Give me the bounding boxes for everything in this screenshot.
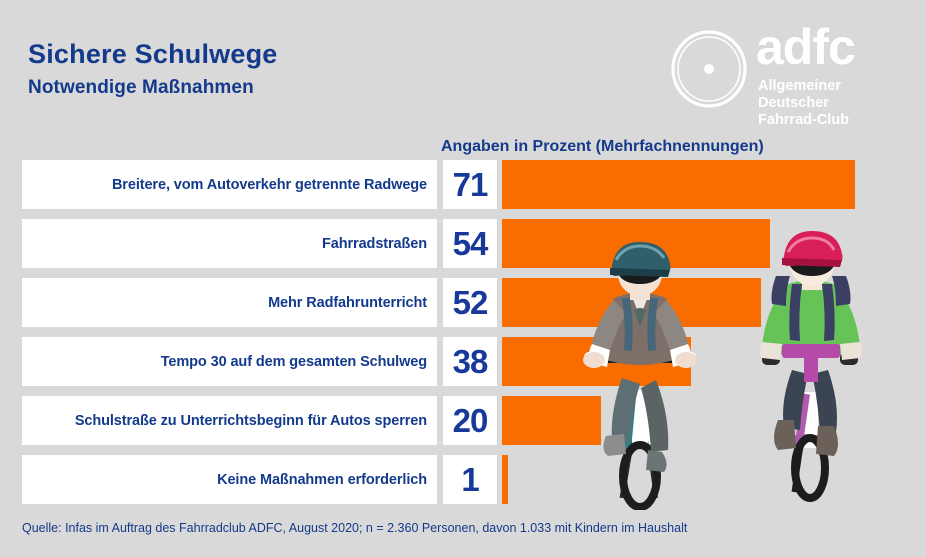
bar-label: Keine Maßnahmen erforderlich bbox=[217, 472, 427, 488]
adfc-logo: adfc Allgemeiner Deutscher Fahrrad-Club bbox=[668, 26, 914, 118]
bar-value: 1 bbox=[461, 463, 478, 496]
chart-note: Angaben in Prozent (Mehrfachnennungen) bbox=[441, 138, 764, 156]
bar-label-box: Fahrradstraßen bbox=[22, 219, 437, 268]
bar-row: Breitere, vom Autoverkehr getrennte Radw… bbox=[0, 160, 926, 209]
bar-value-box: 71 bbox=[443, 160, 497, 209]
bar-label-box: Breitere, vom Autoverkehr getrennte Radw… bbox=[22, 160, 437, 209]
bicycle-wheel-icon bbox=[668, 28, 750, 110]
bar-value-box: 20 bbox=[443, 396, 497, 445]
source-note: Quelle: Infas im Auftrag des Fahrradclub… bbox=[22, 521, 687, 535]
bar-fill bbox=[502, 160, 855, 209]
child-cyclist-illustration bbox=[750, 230, 880, 505]
bar-value-box: 1 bbox=[443, 455, 497, 504]
cyclist-illustration-group bbox=[560, 225, 900, 510]
bar-value: 38 bbox=[453, 345, 488, 378]
bar-label: Schulstraße zu Unterrichtsbeginn für Aut… bbox=[75, 413, 427, 429]
bar-label-box: Schulstraße zu Unterrichtsbeginn für Aut… bbox=[22, 396, 437, 445]
adult-cyclist-illustration bbox=[570, 240, 710, 510]
bar-fill bbox=[502, 455, 508, 504]
bar-label-box: Keine Maßnahmen erforderlich bbox=[22, 455, 437, 504]
bar-value: 52 bbox=[453, 286, 488, 319]
bar-value: 71 bbox=[453, 168, 488, 201]
adfc-fullname-line1: Allgemeiner Deutscher bbox=[758, 78, 914, 112]
bar-value-box: 38 bbox=[443, 337, 497, 386]
page-title: Sichere Schulwege bbox=[28, 41, 278, 68]
bar-label: Breitere, vom Autoverkehr getrennte Radw… bbox=[112, 177, 427, 193]
bar-label-box: Tempo 30 auf dem gesamten Schulweg bbox=[22, 337, 437, 386]
bar-value-box: 54 bbox=[443, 219, 497, 268]
bar-label: Tempo 30 auf dem gesamten Schulweg bbox=[161, 354, 427, 370]
adfc-fullname: Allgemeiner Deutscher Fahrrad-Club bbox=[758, 78, 914, 128]
bar-value-box: 52 bbox=[443, 278, 497, 327]
bar-label: Mehr Radfahrunterricht bbox=[268, 295, 427, 311]
bar-value: 54 bbox=[453, 227, 488, 260]
infographic-canvas: Sichere Schulwege Notwendige Maßnahmen a… bbox=[0, 0, 926, 557]
bar-value: 20 bbox=[453, 404, 488, 437]
bar-label: Fahrradstraßen bbox=[322, 236, 427, 252]
adfc-wordmark: adfc bbox=[756, 22, 855, 72]
page-subtitle: Notwendige Maßnahmen bbox=[28, 78, 254, 97]
bar-label-box: Mehr Radfahrunterricht bbox=[22, 278, 437, 327]
adfc-fullname-line2: Fahrrad-Club bbox=[758, 112, 914, 129]
